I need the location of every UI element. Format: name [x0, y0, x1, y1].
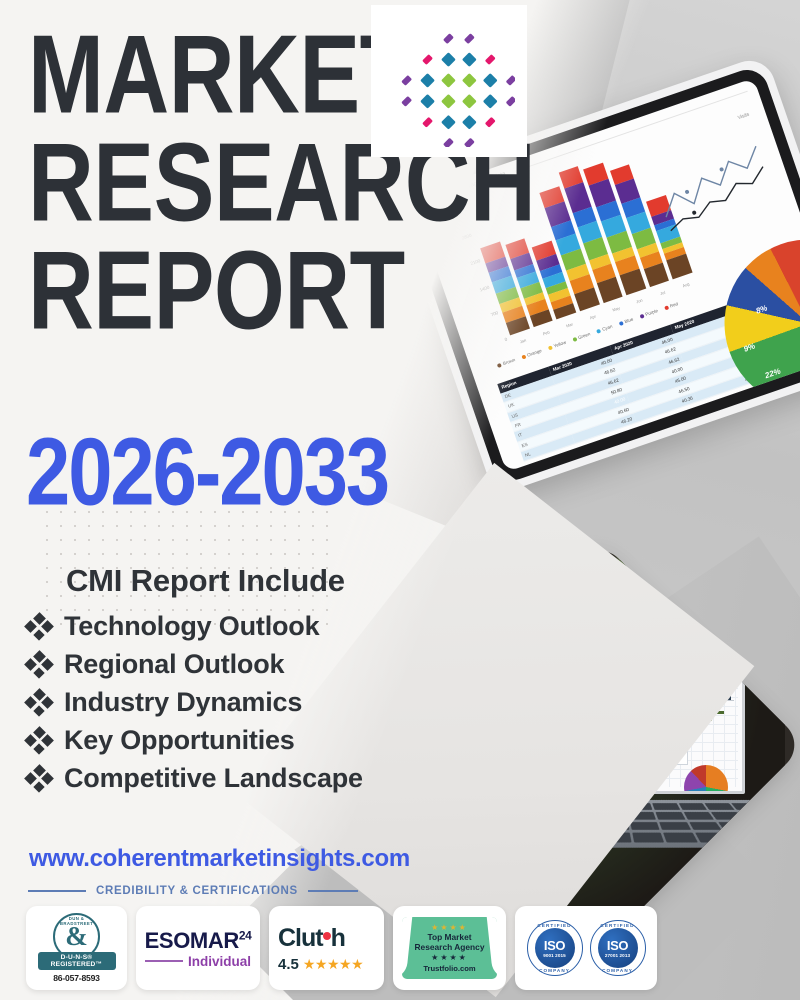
logo-diamond: [483, 73, 498, 88]
logo-diamond: [401, 96, 412, 107]
legend-item: Yellow: [547, 340, 566, 351]
certification-badge-strip: DUN & BRADSTREET & D-U-N-S® REGISTERED™ …: [26, 906, 657, 990]
logo-diamond: [441, 94, 456, 109]
diamond-bullet-icon: [26, 652, 52, 678]
logo-diamond: [443, 33, 454, 44]
logo-diamond: [420, 73, 435, 88]
logo-diamond: [462, 52, 477, 67]
logo-diamond: [422, 117, 433, 128]
iso-arc-top: CERTIFIED: [591, 923, 645, 928]
list-item: Competitive Landscape: [26, 763, 363, 794]
keyboard-row: [437, 803, 762, 810]
bar: [724, 665, 731, 700]
esomar-rule: [145, 960, 183, 962]
logo-diamond: [506, 75, 515, 86]
list-item-label: Key Opportunities: [64, 725, 295, 756]
logo-diamond: [462, 115, 477, 130]
x-tick-label: May: [606, 303, 627, 314]
logo-diamond: [464, 33, 475, 44]
report-year-range: 2026-2033: [26, 424, 388, 519]
clutch-name-part1: Clut: [278, 924, 323, 952]
logo-diamond: [464, 138, 475, 147]
keyboard-rows: [401, 803, 797, 842]
iso-wordmark: ISO: [607, 939, 628, 952]
iso-arc-bottom: COMPANY: [591, 968, 645, 973]
legend-item: Green: [572, 331, 591, 342]
logo-diamond: [485, 117, 496, 128]
spreadsheet-toolbar: [456, 619, 742, 628]
bar: [697, 666, 704, 700]
bar: [662, 687, 669, 700]
table-row: [465, 676, 587, 680]
bar: [688, 670, 695, 701]
logo-diamond: [401, 75, 412, 86]
duns-seal-arc-text: DUN & BRADSTREET: [55, 916, 98, 926]
clutch-rating-badge[interactable]: Cluth 4.5 ★★★★★: [269, 906, 384, 990]
list-item-label: Technology Outlook: [64, 611, 319, 642]
headline-line-3: REPORT: [28, 240, 535, 343]
coherent-market-insights-sphere-logo: [383, 15, 515, 147]
iso-core: ISO 9001 2015: [535, 928, 575, 968]
trustfolio-badge[interactable]: ★★★★ Top Market Research Agency ★★★★ Tru…: [393, 906, 506, 990]
legend-item: Orange: [521, 348, 542, 360]
bar: [706, 663, 713, 700]
report-include-heading: CMI Report Include: [66, 563, 345, 599]
duns-band-line-2: REGISTERED™: [38, 961, 116, 968]
spreadsheet-bar-chart: [604, 639, 734, 701]
list-item: Technology Outlook: [26, 611, 363, 642]
logo-diamond: [441, 115, 456, 130]
logo-diamond: [443, 138, 454, 147]
laptop-dashboard-photo: [395, 540, 800, 950]
star-rating-top-icon: ★★★★: [431, 923, 468, 932]
logo-diamond: [462, 94, 477, 109]
star-rating-icon: ★★★★★: [303, 956, 363, 973]
keyboard-row: [426, 812, 772, 819]
list-item-label: Industry Dynamics: [64, 687, 302, 718]
bar: [670, 683, 677, 700]
bar: [635, 682, 642, 700]
duns-registered-badge[interactable]: DUN & BRADSTREET & D-U-N-S® REGISTERED™ …: [26, 906, 127, 990]
trustfolio-plaque: ★★★★ Top Market Research Agency ★★★★ Tru…: [402, 917, 497, 979]
esomar-name: ESOMAR: [145, 928, 239, 953]
iso-arc-bottom: COMPANY: [528, 968, 582, 973]
laptop-keyboard: [395, 800, 800, 848]
list-item: Key Opportunities: [26, 725, 363, 756]
divider-line-left: [28, 890, 86, 892]
bar: [608, 676, 615, 700]
esomar-tier: Individual: [188, 954, 251, 969]
iso-wordmark: ISO: [544, 939, 565, 952]
duns-band-line-1: D-U-N-S®: [38, 954, 116, 961]
esomar-subline: Individual: [145, 954, 251, 969]
diamond-bullet-icon: [26, 728, 52, 754]
legend-item: Purple: [639, 308, 659, 319]
bar: [715, 667, 722, 700]
laptop-scene: [415, 560, 785, 930]
logo-diamond: [506, 96, 515, 107]
credibility-divider: CREDIBILITY & CERTIFICATIONS: [28, 885, 358, 897]
iso-standard: 9001 2015: [543, 953, 566, 958]
list-item: Industry Dynamics: [26, 687, 363, 718]
bar: [679, 673, 686, 700]
bar: [653, 679, 660, 700]
x-tick-label: Jun: [629, 295, 650, 306]
keyboard-row: [414, 822, 783, 830]
logo-diamond: [441, 52, 456, 67]
trustfolio-site: Trustfolio.com: [423, 964, 475, 973]
clutch-score: 4.5: [278, 956, 299, 973]
clutch-rating-row: 4.5 ★★★★★: [278, 956, 363, 973]
divider-line-right: [308, 890, 358, 892]
legend-item: Red: [664, 301, 679, 310]
esomar-badge[interactable]: ESOMAR24 Individual: [136, 906, 260, 990]
logo-diamond: [462, 73, 477, 88]
esomar-wordmark: ESOMAR24: [145, 928, 252, 954]
esomar-superscript: 24: [239, 928, 252, 942]
laptop-screen: [453, 616, 745, 794]
legend-item: Cyan: [596, 324, 613, 334]
diamond-bullet-icon: [26, 614, 52, 640]
x-tick-label: Apr: [582, 311, 603, 322]
logo-diamond: [485, 54, 496, 65]
duns-number: 86-057-8593: [53, 973, 100, 983]
logo-diamond: [483, 94, 498, 109]
logo-diamond: [441, 73, 456, 88]
brand-logo-card: [371, 5, 527, 157]
iso-9001-seal-icon: CERTIFIED ISO 9001 2015 COMPANY: [527, 920, 583, 976]
website-url[interactable]: www.coherentmarketinsights.com: [29, 845, 410, 873]
spreadsheet-line-chart: [606, 719, 688, 765]
spreadsheet-pie-chart-1: [472, 711, 518, 757]
x-tick-label: Mar: [559, 319, 580, 330]
diamond-bullet-icon: [26, 690, 52, 716]
bar: [644, 684, 651, 700]
logo-diamond: [420, 94, 435, 109]
table-header: [465, 640, 587, 648]
x-tick-label: Jul: [652, 287, 673, 298]
ampersand-icon: &: [65, 923, 88, 950]
report-include-list: Technology OutlookRegional OutlookIndust…: [26, 611, 363, 801]
spreadsheet-data-table: [464, 639, 588, 701]
trustfolio-line-1: Top Market: [427, 933, 471, 942]
bar: [626, 668, 633, 700]
trustfolio-line-2: Research Agency: [415, 943, 485, 952]
clutch-dot-icon: [323, 932, 331, 940]
x-tick-label: Feb: [536, 327, 557, 338]
clutch-wordmark: Cluth: [278, 924, 345, 953]
iso-standard: 27001 2013: [605, 953, 630, 958]
market-research-report-poster: Ad Clicks Average rank data 350028002100…: [0, 0, 800, 1000]
x-tick-label: Aug: [675, 279, 696, 290]
star-rating-bottom-icon: ★★★★: [431, 953, 468, 962]
iso-certification-badges[interactable]: CERTIFIED ISO 9001 2015 COMPANY CERTIFIE…: [515, 906, 657, 990]
legend-item: Blue: [618, 317, 634, 327]
iso-arc-top: CERTIFIED: [528, 923, 582, 928]
bar: [617, 672, 624, 700]
list-item: Regional Outlook: [26, 649, 363, 680]
logo-diamond: [422, 54, 433, 65]
iso-core: ISO 27001 2013: [598, 928, 638, 968]
diamond-bullet-icon: [26, 766, 52, 792]
list-item-label: Regional Outlook: [64, 649, 284, 680]
keyboard-row: [401, 833, 797, 843]
credibility-label: CREDIBILITY & CERTIFICATIONS: [96, 885, 298, 897]
duns-band: D-U-N-S® REGISTERED™: [38, 952, 116, 970]
clutch-name-part2: h: [331, 924, 345, 952]
iso-27001-seal-icon: CERTIFIED ISO 27001 2013 COMPANY: [590, 920, 646, 976]
legend-item: Brown: [496, 357, 515, 368]
list-item-label: Competitive Landscape: [64, 763, 363, 794]
line-chart-label: Visits: [737, 112, 750, 122]
